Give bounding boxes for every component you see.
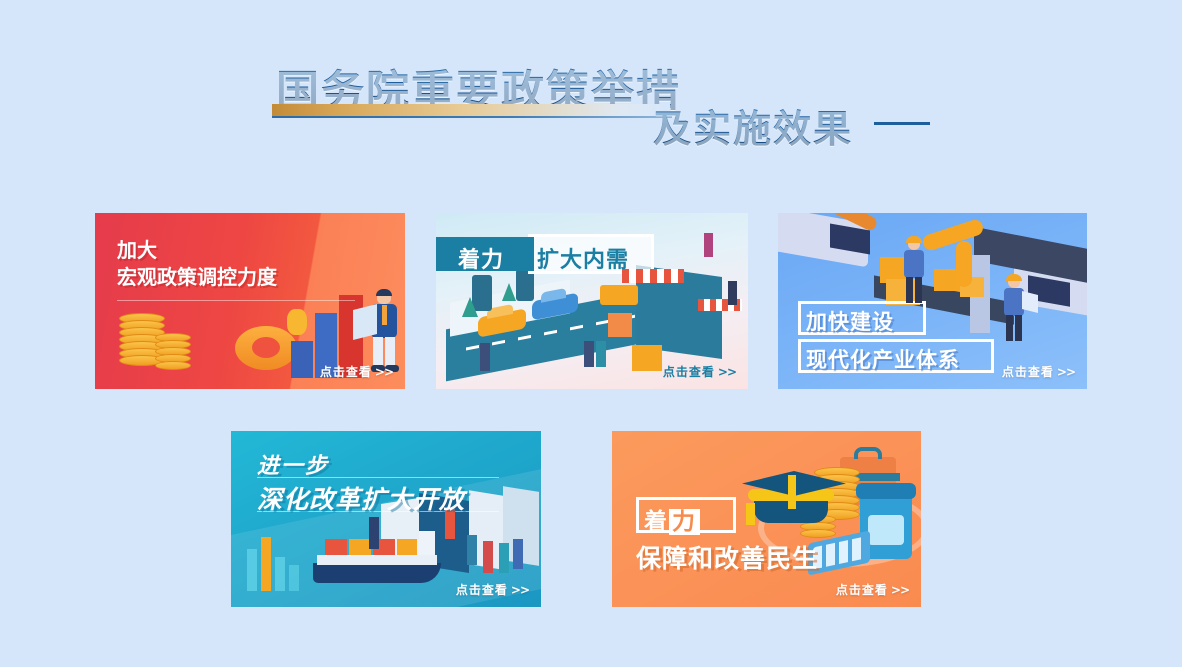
card2-cta[interactable]: 点击查看>> (663, 363, 736, 380)
card-safeguard-improve-livelihood[interactable]: 着力 保障和改善民生 点击查看>> (612, 431, 921, 607)
graduation-cap-illustration (742, 469, 848, 523)
tree-illustration-2 (502, 283, 516, 301)
title-dash-decoration (874, 122, 930, 125)
factory-worker-illustration-1 (902, 239, 926, 305)
card4-cta-arrow-icon: >> (511, 583, 529, 597)
delivery-truck-illustration (600, 285, 638, 305)
card5-title-line1-part2: 力 (669, 509, 700, 535)
office-person-illustration-1 (369, 517, 379, 549)
shopper-figure-5 (728, 281, 737, 305)
robot-arm-joint-illustration (956, 241, 972, 287)
background-bar-chart-illustration (247, 531, 317, 591)
card3-cta[interactable]: 点击查看>> (1002, 363, 1075, 380)
card2-title-line1: 着力 (458, 242, 504, 274)
shop-awning-illustration (622, 269, 684, 283)
card1-cta-arrow-icon: >> (375, 365, 393, 379)
card1-cta-label: 点击查看 (320, 365, 372, 379)
package-box-illustration-2 (632, 345, 662, 371)
card3-cta-arrow-icon: >> (1057, 365, 1075, 379)
card-expand-domestic-demand[interactable]: 着力 扩大内需 点击查看>> (436, 213, 748, 389)
gold-ring-illustration (235, 326, 297, 370)
card3-cta-label: 点击查看 (1002, 365, 1054, 379)
bar-chart-blue-short-illustration (291, 341, 313, 378)
card5-title-line2: 保障和改善民生 (636, 539, 818, 575)
title-underline-blue (272, 116, 672, 118)
card4-title-line2: 深化改革扩大开放 (257, 480, 465, 516)
card4-cta-label: 点击查看 (456, 583, 508, 597)
shopper-figure-2 (596, 341, 606, 367)
card-macro-policy-regulation[interactable]: 加大 宏观政策调控力度 点击查看>> (95, 213, 405, 389)
card1-title-line2: 宏观政策调控力度 (117, 264, 277, 291)
card1-title: 加大 宏观政策调控力度 (117, 237, 277, 291)
shopper-figure-4 (704, 233, 713, 257)
shopper-figure-1 (584, 341, 594, 367)
card5-cta[interactable]: 点击查看>> (836, 581, 909, 598)
card5-cta-arrow-icon: >> (891, 583, 909, 597)
card2-cta-arrow-icon: >> (718, 365, 736, 379)
card3-title-line1: 加快建设 (806, 306, 894, 336)
office-person-illustration-3 (467, 535, 477, 565)
office-person-illustration-4 (483, 541, 493, 573)
shopper-figure-3 (480, 343, 490, 371)
card5-title-line1-part1: 着 (644, 509, 669, 535)
card1-title-line1: 加大 (117, 237, 277, 264)
page-subtitle: 及实施效果 (653, 98, 853, 153)
office-person-illustration-6 (513, 539, 523, 569)
card4-cta[interactable]: 点击查看>> (456, 581, 529, 598)
office-person-illustration-5 (499, 543, 509, 573)
coin-icon-illustration (287, 309, 307, 335)
tree-illustration-1 (462, 297, 478, 317)
card1-cta[interactable]: 点击查看>> (320, 363, 393, 380)
package-box-illustration-1 (608, 313, 632, 337)
card5-cta-label: 点击查看 (836, 583, 888, 597)
card4-title-line1: 进一步 (257, 448, 329, 480)
card2-cta-label: 点击查看 (663, 365, 715, 379)
page-header: 国务院重要政策举措 及实施效果 (0, 0, 1182, 180)
card5-title-line1: 着力 (644, 502, 700, 536)
card-deepen-reform-opening-up[interactable]: 进一步 深化改革扩大开放 点击查看>> (231, 431, 541, 607)
factory-worker-illustration-2 (1002, 277, 1026, 343)
card-modern-industrial-system[interactable]: 加快建设 现代化产业体系 点击查看>> (778, 213, 1087, 389)
card2-title-line2: 扩大内需 (537, 242, 629, 274)
card3-title-line2: 现代化产业体系 (806, 344, 960, 374)
card1-title-rule (117, 300, 355, 301)
coin-stack-small-illustration (155, 333, 195, 373)
